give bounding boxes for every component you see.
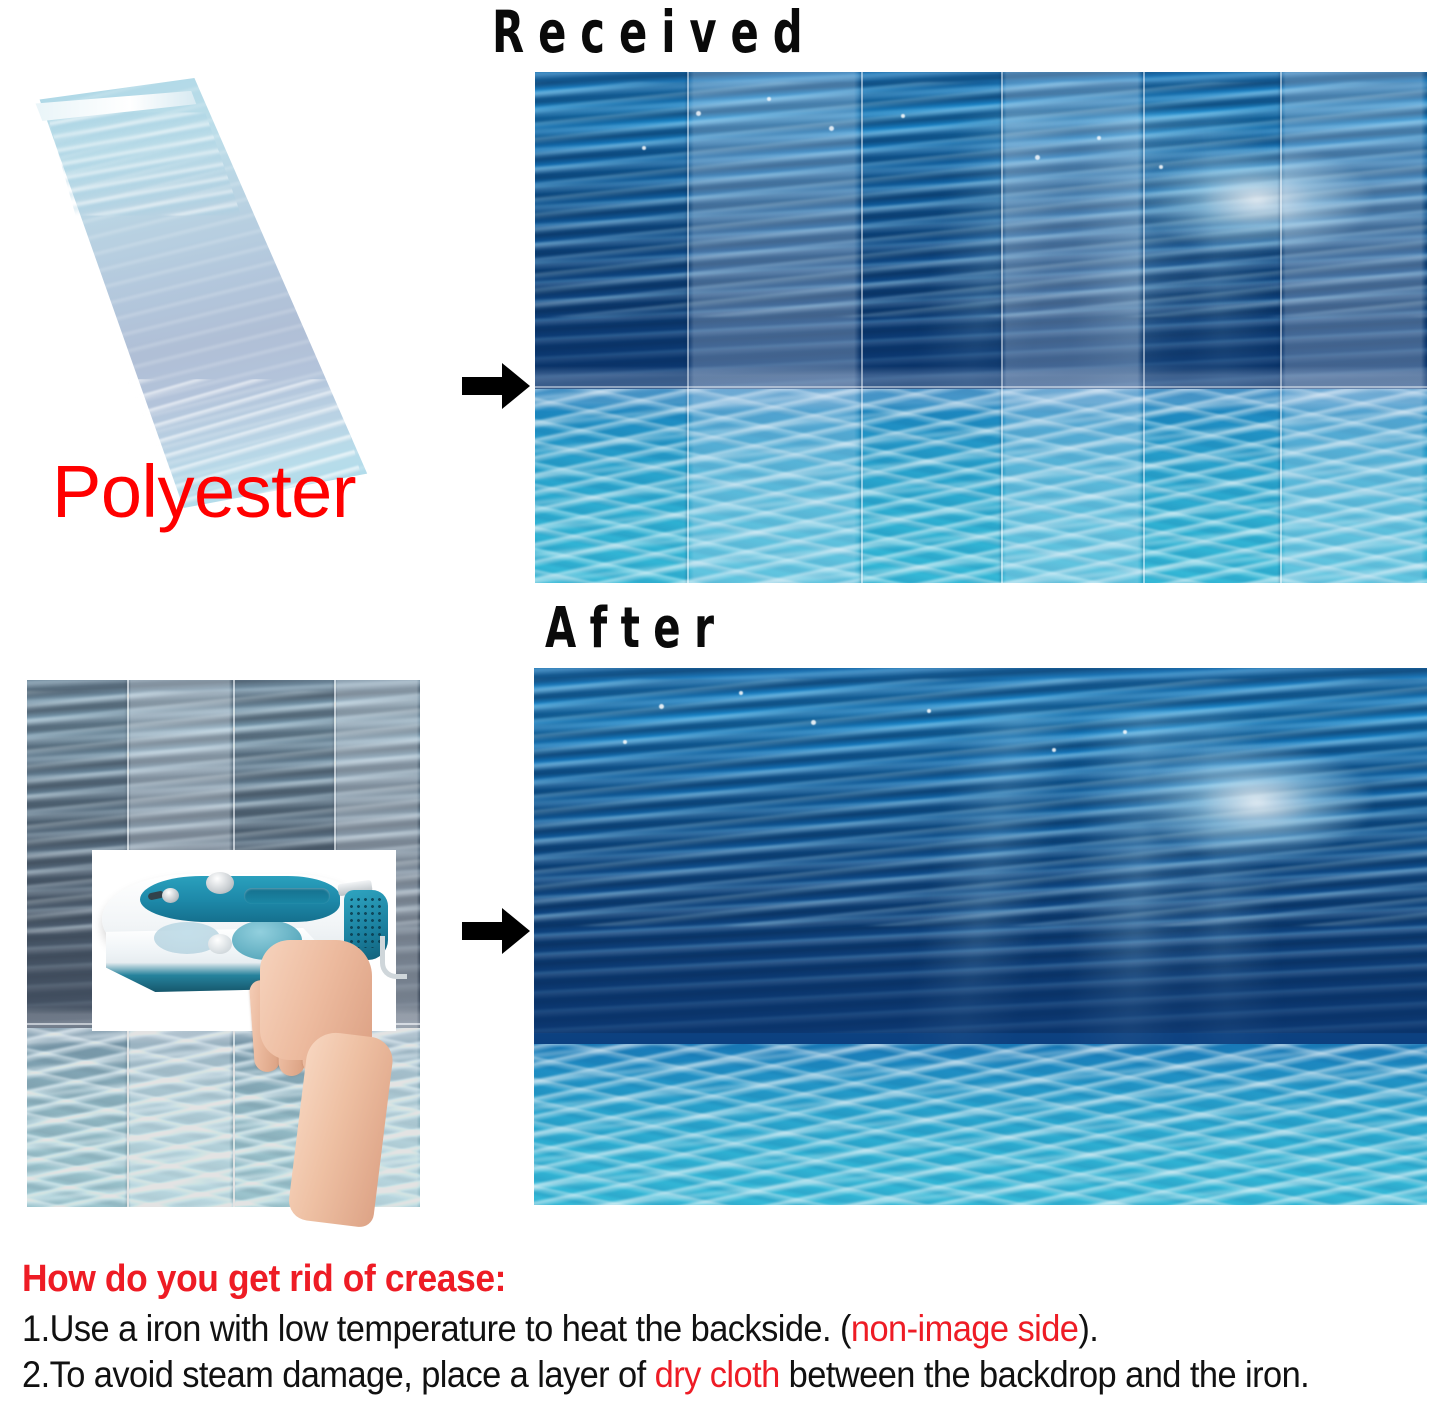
polyester-fabric-swatch — [18, 78, 378, 508]
after-heading: After — [545, 596, 727, 661]
instruction-2-prefix: 2.To avoid steam damage, place a layer o… — [22, 1354, 655, 1395]
bubbles — [535, 72, 1427, 317]
arrow-right-icon — [462, 360, 530, 412]
instruction-line-2: 2.To avoid steam damage, place a layer o… — [22, 1353, 1329, 1397]
seabed — [535, 389, 1427, 583]
polyester-label: Polyester — [52, 455, 356, 529]
seabed-caustics-soft — [535, 389, 1427, 583]
instructions-heading: How do you get rid of crease: — [22, 1258, 1329, 1301]
iron-temperature-dial — [208, 934, 232, 954]
swatch-top-ripples — [18, 112, 378, 215]
instruction-2-suffix: between the backdrop and the iron. — [780, 1354, 1310, 1395]
seabed-after — [534, 1044, 1427, 1205]
seabed-caustics-soft-after — [534, 1044, 1427, 1205]
instruction-1-highlight: non-image side — [851, 1308, 1078, 1349]
iron-photo — [92, 850, 396, 1031]
received-heading: Received — [492, 0, 817, 66]
instruction-1-suffix: ). — [1078, 1308, 1098, 1349]
bubbles-after — [534, 668, 1427, 926]
iron-handle-slot — [244, 888, 330, 904]
instruction-2-highlight: dry cloth — [655, 1354, 780, 1395]
instruction-line-1: 1.Use a iron with low temperature to hea… — [22, 1307, 1329, 1351]
hand-holding-iron — [242, 922, 392, 1152]
received-backdrop-photo — [535, 72, 1427, 583]
iron-steam-button — [162, 888, 179, 903]
instruction-1-prefix: 1.Use a iron with low temperature to hea… — [22, 1308, 851, 1349]
instructions-block: How do you get rid of crease: 1.Use a ir… — [22, 1258, 1427, 1398]
iron-steam-knob — [206, 872, 234, 894]
after-backdrop-photo — [534, 668, 1427, 1205]
arrow-right-icon — [462, 905, 530, 957]
